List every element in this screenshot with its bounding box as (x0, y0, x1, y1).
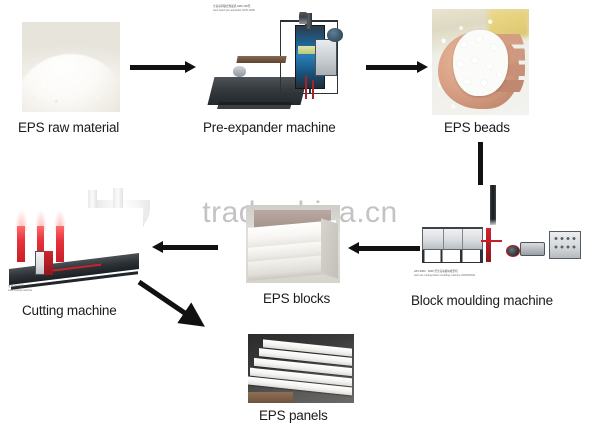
caption-eps-panels: EPS panels (259, 408, 328, 423)
step-eps-raw-material (22, 22, 120, 112)
cutting-machine-label-en: Auto cutting machine (8, 289, 32, 293)
moulding-control-panel (549, 231, 581, 259)
arrow-shaft (366, 65, 419, 70)
eps-process-flow-diagram: EPS raw material 全自动间歇式预发机 HPD-100型 Auto… (0, 0, 600, 433)
block-moulding-machine-label: HPJ-2000 · 3000 型全自动板块成型机 Auto air cooli… (414, 270, 475, 278)
step-eps-beads (432, 9, 529, 115)
cutter-heated-column-3 (56, 226, 64, 262)
step-pre-expander-machine (205, 12, 350, 115)
step-cutting-machine (5, 208, 143, 290)
powder-grain-texture (22, 22, 120, 112)
arrow-shaft (161, 245, 218, 250)
caption-cutting-machine: Cutting machine (22, 303, 117, 318)
expander-blower-fan (327, 28, 343, 41)
expander-motor (233, 66, 246, 77)
arrow-shaft (357, 246, 420, 251)
control-panel-gauges-row-2 (553, 244, 577, 251)
caption-pre-expander-machine: Pre-expander machine (203, 120, 336, 135)
cutter-red-cabinet (44, 251, 54, 276)
pre-expander-machine-label: 全自动间歇式预发机 HPD-100型 Auto batch pre-expand… (213, 5, 255, 13)
moulding-vacuum-pump (520, 242, 545, 256)
expander-top-operator (299, 12, 306, 24)
caption-eps-beads: EPS beads (444, 120, 510, 135)
step-eps-blocks (246, 205, 340, 283)
step-block-moulding-machine (408, 185, 586, 271)
control-panel-gauges-row-1 (553, 235, 577, 242)
caption-block-moulding-machine: Block moulding machine (411, 293, 553, 308)
pre-expander-machine-image (205, 12, 350, 115)
arrow-head (152, 241, 163, 253)
eps-beads-image (432, 9, 529, 115)
arrow-cutter-to-panels (135, 278, 207, 330)
eps-panels-image (248, 334, 354, 403)
arrow-mould-to-blocks (348, 242, 420, 255)
cutting-machine-image (5, 208, 143, 290)
moulding-silos (422, 227, 483, 250)
beads-pile (453, 30, 507, 96)
expander-red-pipe-2 (312, 80, 314, 99)
arrow-expander-to-beads (366, 61, 428, 74)
expander-feed-pipe (236, 56, 287, 63)
moulding-red-pipe (486, 228, 491, 262)
eps-block-side-face (321, 218, 338, 278)
eps-blocks-image (246, 205, 340, 283)
expander-red-pipe-1 (305, 76, 307, 99)
arrow-head (185, 61, 196, 73)
arrow-head (417, 61, 428, 73)
step-eps-panels (248, 334, 354, 403)
caption-eps-blocks: EPS blocks (263, 291, 330, 306)
expander-base-shadow (217, 102, 292, 109)
arrow-shaft (139, 282, 195, 320)
eps-raw-material-image (22, 22, 120, 112)
block-moulding-machine-image (408, 185, 586, 271)
expander-control-cabinet (315, 39, 337, 76)
arrow-blocks-to-cutter (152, 241, 218, 254)
cutter-heated-column-1 (17, 226, 25, 262)
block-moulding-label-en: Auto air cooling block moulding machine … (414, 274, 475, 278)
panels-wood-floor (248, 392, 293, 403)
arrow-shaft (130, 65, 187, 70)
caption-eps-raw-material: EPS raw material (18, 120, 119, 135)
moulding-flywheel (506, 245, 520, 257)
arrow-head (348, 242, 359, 254)
pre-expander-label-en: Auto batch pre-expander HPD-100B (213, 9, 255, 13)
arrow-raw-to-expander (130, 61, 196, 74)
moulding-frame-legs (422, 250, 483, 263)
moulding-red-arm (481, 240, 502, 242)
lamp-stem-right (113, 188, 123, 208)
cutting-machine-label: 全自动切割机 Auto cutting machine (8, 285, 32, 293)
